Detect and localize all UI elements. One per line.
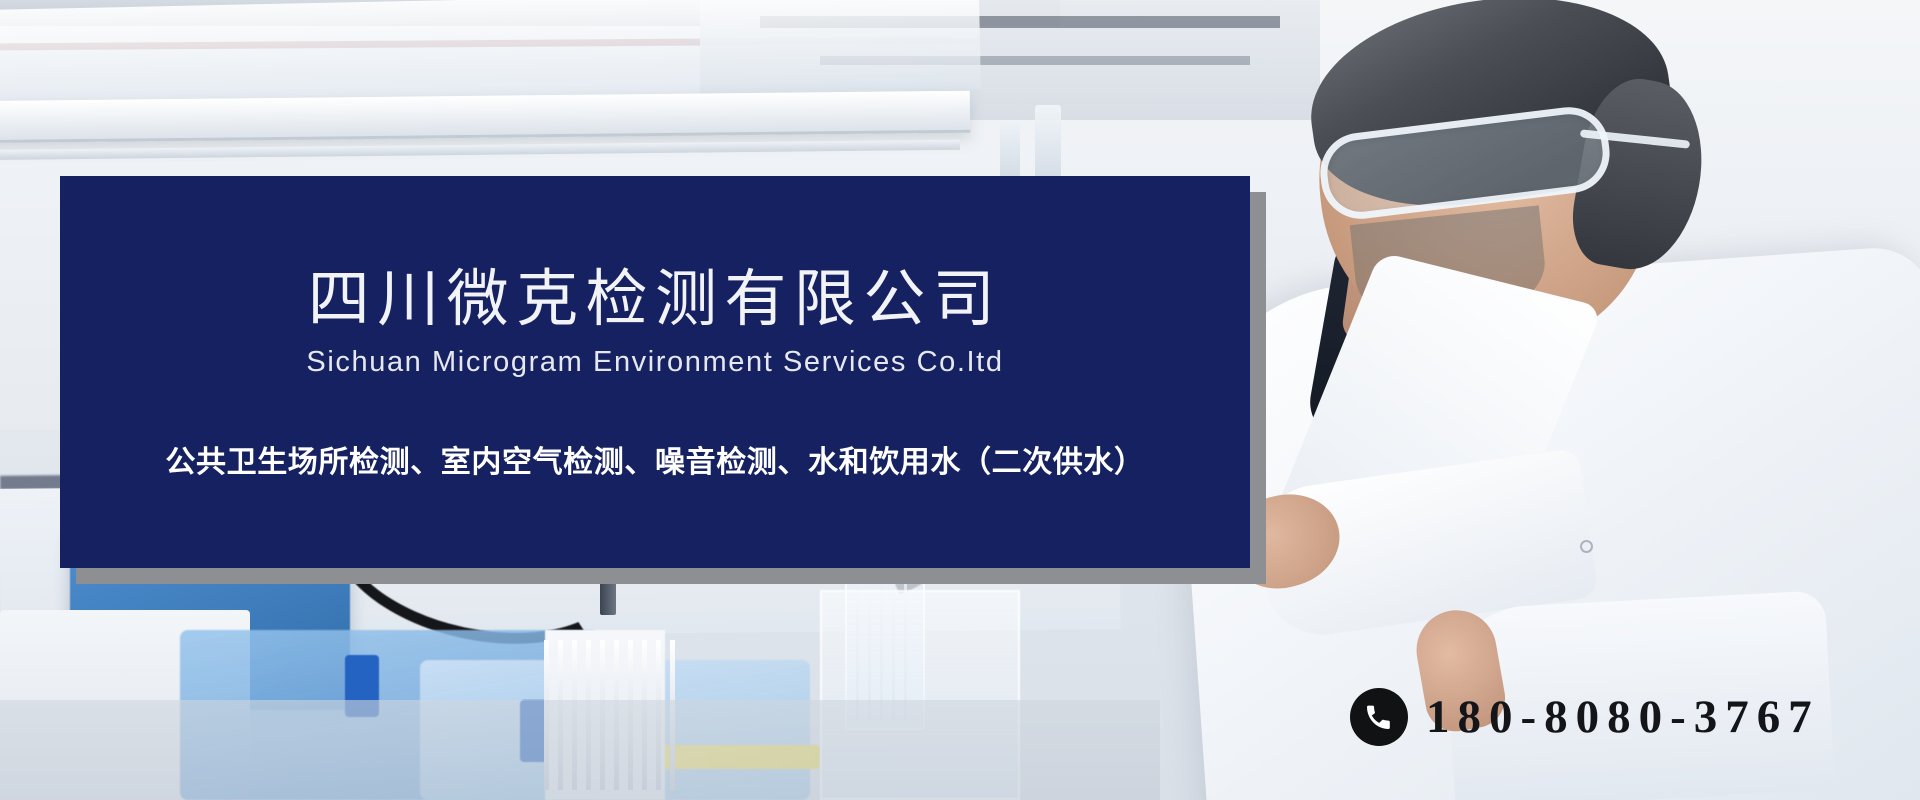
hero-banner: 四川微克检测有限公司 Sichuan Microgram Environment…: [0, 0, 1920, 800]
services-tagline: 公共卫生场所检测、室内空气检测、噪音检测、水和饮用水（二次供水）: [165, 437, 1144, 481]
coat-button: [1580, 540, 1593, 553]
company-name-en: Sichuan Microgram Environment Services C…: [306, 346, 1003, 379]
reagent-bottle-2: [1000, 120, 1020, 184]
phone-number-text[interactable]: 180-8080-3767: [1426, 690, 1820, 744]
bench-front-panel: [0, 700, 1160, 800]
company-name-cn: 四川微克检测有限公司: [308, 263, 1002, 336]
contact-phone[interactable]: 180-8080-3767: [1350, 688, 1820, 746]
phone-handset-icon[interactable]: [1350, 688, 1408, 746]
company-info-panel: 四川微克检测有限公司 Sichuan Microgram Environment…: [60, 176, 1250, 568]
